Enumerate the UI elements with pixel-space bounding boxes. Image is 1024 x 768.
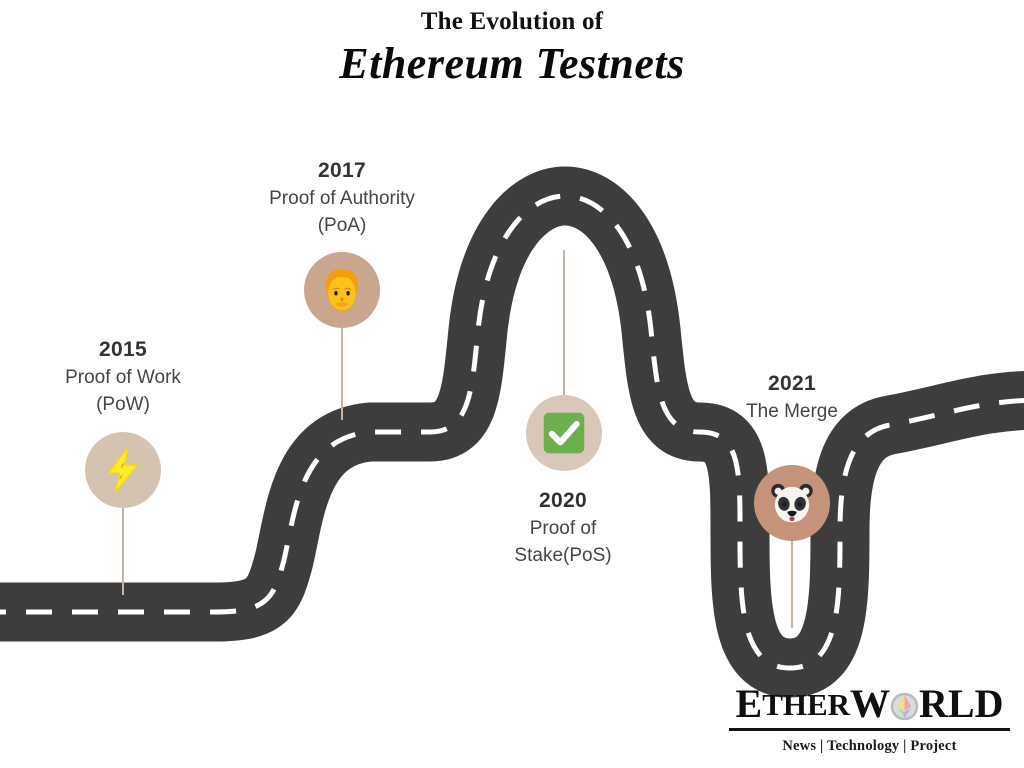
- milestone-2015-stem: [122, 500, 124, 595]
- milestone-2021-stem: [791, 534, 793, 628]
- milestone-2021-text: 2021 The Merge: [662, 370, 922, 425]
- infographic-canvas: The Evolution of Ethereum Testnets 2015 …: [0, 0, 1024, 768]
- milestone-2015-year: 2015: [0, 336, 253, 364]
- milestone-2020-text: 2020 Proof of Stake(PoS): [433, 487, 693, 568]
- milestone-2015-label-line1: Proof of Work: [0, 366, 253, 390]
- milestone-2017-label-line1: Proof of Authority: [212, 187, 472, 211]
- logo-part-3: W: [850, 684, 890, 724]
- milestone-2021-label-line1: The Merge: [662, 400, 922, 424]
- milestone-2015-text: 2015 Proof of Work (PoW): [0, 336, 253, 417]
- milestone-2021-badge[interactable]: [754, 465, 830, 541]
- man-face-icon: [316, 264, 368, 316]
- logo-part-2: THER: [762, 689, 850, 720]
- milestone-2020-label-line2: Stake(PoS): [433, 544, 693, 568]
- milestone-2020-year: 2020: [433, 487, 693, 515]
- milestone-2017-stem: [341, 322, 343, 420]
- milestone-2015-badge[interactable]: [85, 432, 161, 508]
- milestone-2020-badge[interactable]: [526, 395, 602, 471]
- milestone-2015-label-line2: (PoW): [0, 393, 253, 417]
- ethereum-globe-icon: [890, 692, 919, 721]
- logo-wordmark: ETHERW RLD: [727, 684, 1012, 724]
- milestone-2017-year: 2017: [212, 157, 472, 185]
- milestone-2017-badge[interactable]: [304, 252, 380, 328]
- milestone-2017-text: 2017 Proof of Authority (PoA): [212, 157, 472, 238]
- milestone-2021-year: 2021: [662, 370, 922, 398]
- milestone-2020-label-line1: Proof of: [433, 517, 693, 541]
- etherworld-logo[interactable]: ETHERW RLD News | Technology | Project: [727, 684, 1012, 755]
- milestone-2020-stem: [563, 250, 565, 398]
- logo-part-1: E: [736, 684, 763, 724]
- panda-face-icon: [766, 477, 818, 529]
- logo-part-4: RLD: [919, 684, 1003, 724]
- logo-divider-rule: [729, 728, 1010, 731]
- high-voltage-icon: [97, 444, 149, 496]
- milestone-2017-label-line2: (PoA): [212, 214, 472, 238]
- logo-tagline: News | Technology | Project: [727, 738, 1012, 755]
- check-mark-button-icon: [538, 407, 590, 459]
